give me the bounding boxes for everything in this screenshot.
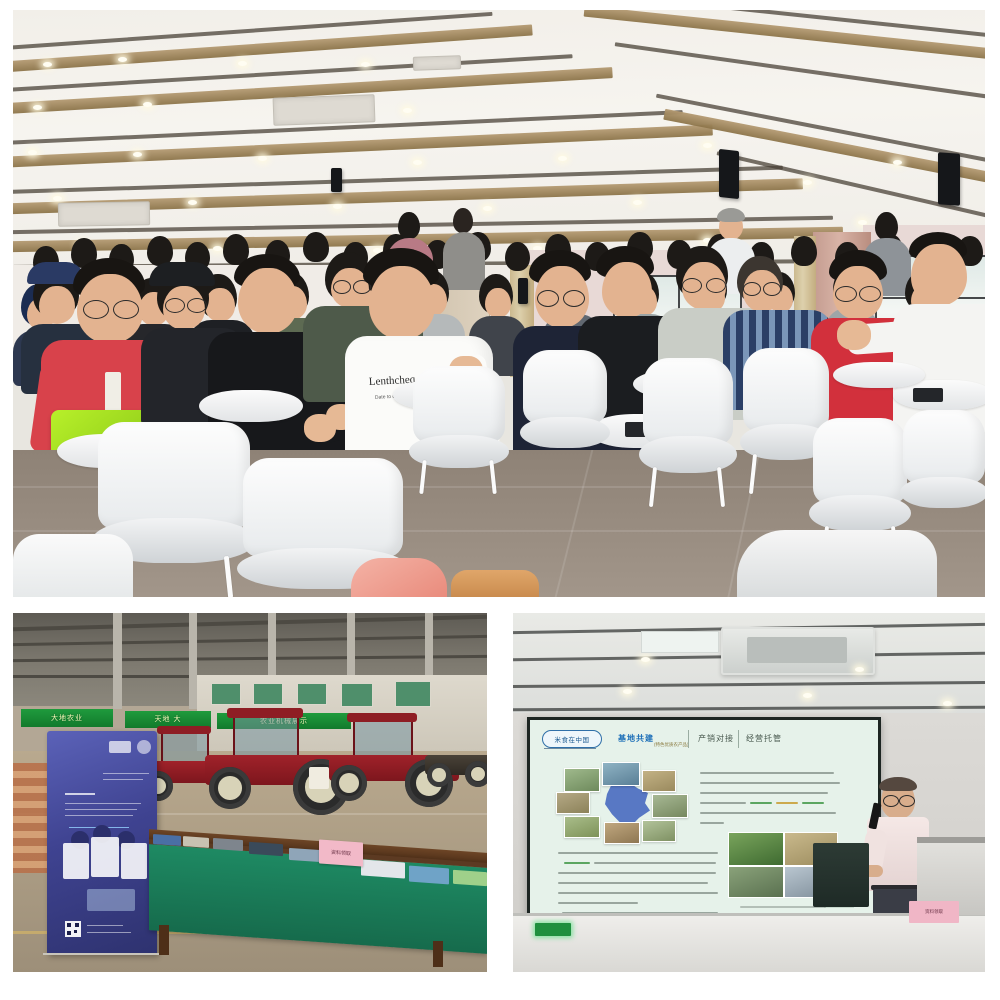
glasses-icon xyxy=(537,290,559,307)
wall-speaker-icon xyxy=(719,149,739,199)
glasses-icon xyxy=(743,282,761,296)
warehouse-window xyxy=(341,683,373,707)
ceiling-downlight xyxy=(188,200,197,205)
ceiling-downlight xyxy=(53,196,62,201)
slide-thumbnail xyxy=(602,762,640,786)
slide-logo: 米食在中国 xyxy=(542,730,602,748)
wall-speaker-icon xyxy=(938,152,960,206)
chair-back xyxy=(903,410,985,484)
banner-caption-block xyxy=(87,889,135,911)
counter-leg xyxy=(433,941,443,967)
ceiling-downlight xyxy=(641,657,650,662)
seminar-audience-photo[interactable]: Lenthcheq Date to dream xyxy=(13,10,985,597)
slide-heading-divider xyxy=(738,730,739,748)
phone-icon xyxy=(913,388,943,402)
tractor-exhibition-photo[interactable]: 大地农业 天地 大 农业机械展示 xyxy=(13,613,487,972)
warehouse-window xyxy=(211,683,241,705)
ceiling-downlight xyxy=(703,143,712,148)
glasses-icon xyxy=(883,795,899,807)
ceiling-downlight xyxy=(803,180,812,185)
brochure xyxy=(409,866,449,885)
foreground-object-tan xyxy=(451,570,539,597)
ac-grill xyxy=(747,637,847,663)
chair-leg xyxy=(224,556,233,597)
slide-thumbnail xyxy=(604,822,640,844)
glasses-icon xyxy=(835,286,857,302)
wall-speaker-icon xyxy=(331,168,342,192)
glasses-icon xyxy=(165,298,185,313)
chair-back xyxy=(643,358,733,445)
chair-back xyxy=(813,418,907,504)
chair-back xyxy=(523,350,607,424)
brochure xyxy=(213,838,243,851)
glasses-icon xyxy=(899,795,915,807)
foreground-chair xyxy=(13,534,133,597)
ceiling-downlight xyxy=(118,57,127,62)
slide-heading-2: 产销对接 xyxy=(698,733,734,744)
slide-heading-primary: 基地共建 xyxy=(618,733,654,744)
chair-seat xyxy=(900,477,985,508)
slide-heading-divider xyxy=(688,730,689,748)
brochure xyxy=(289,848,321,862)
ceiling-downlight xyxy=(143,102,152,107)
slide-thumbnail xyxy=(642,770,676,792)
chair-tablet-arm xyxy=(833,362,925,388)
slide-heading-note: (特色优质农产品) xyxy=(654,742,689,748)
ceiling-downlight xyxy=(28,150,37,155)
glasses-icon xyxy=(113,300,139,319)
chair-leg xyxy=(489,460,497,494)
ceiling-downlight xyxy=(403,108,412,113)
banner-info-card xyxy=(121,843,147,879)
glasses-icon xyxy=(682,278,702,293)
roof-truss xyxy=(113,613,122,709)
counter-pink-sign-text: 资料领取 xyxy=(331,849,351,857)
desk-name-card: 资料领取 xyxy=(909,901,959,923)
slide-thumbnail xyxy=(564,768,600,792)
roof-truss xyxy=(189,613,197,709)
foreground-object-pink xyxy=(351,558,447,597)
ceiling-downlight xyxy=(803,693,812,698)
exit-sign-icon xyxy=(535,923,571,936)
ceiling-downlight xyxy=(413,160,422,165)
glasses-icon xyxy=(187,298,207,313)
ceiling-ac-vent xyxy=(273,94,376,126)
banner-stand-foot xyxy=(43,953,161,955)
banner-info-card xyxy=(63,843,89,879)
side-cabinet-top xyxy=(917,837,985,843)
ceiling-downlight xyxy=(855,667,864,672)
slide-thumbnail xyxy=(556,792,590,814)
warehouse-window xyxy=(253,683,283,705)
lecture-chair[interactable] xyxy=(643,358,733,498)
ceiling-downlight xyxy=(558,156,567,161)
brochure xyxy=(453,870,487,886)
counter-pink-sign: 资料领取 xyxy=(319,839,363,866)
counter-leg xyxy=(159,925,169,955)
slide-thumbnail xyxy=(564,816,600,838)
chair-leg xyxy=(419,460,427,494)
podium xyxy=(813,843,869,907)
banner-info-card xyxy=(91,837,119,877)
ceiling-downlight xyxy=(33,105,42,110)
expo-banner-left: 大地农业 xyxy=(21,709,113,727)
tractor-far-right xyxy=(425,737,487,799)
ceiling-downlight xyxy=(623,689,632,694)
brochure xyxy=(249,842,283,856)
glasses-icon xyxy=(859,286,881,302)
ceiling-downlight xyxy=(238,61,247,66)
slide-photo xyxy=(728,832,784,866)
lecture-chair[interactable] xyxy=(413,366,505,490)
lecture-chair[interactable] xyxy=(523,350,607,470)
brochure xyxy=(361,859,405,878)
ceiling-downlight xyxy=(133,152,142,157)
ceiling-ac-unit xyxy=(721,627,875,675)
warehouse-window xyxy=(395,681,431,707)
lecture-chair[interactable] xyxy=(903,410,985,530)
slide-heading-3: 经营托管 xyxy=(746,733,782,744)
chair-seat xyxy=(520,417,611,448)
ceiling-downlight xyxy=(893,160,902,165)
brochure xyxy=(183,836,209,848)
photo-collage: Lenthcheq Date to dream xyxy=(0,0,1000,1000)
presentation-lecture-photo[interactable]: 米食在中国 基地共建 (特色优质农产品) 产销对接 经营托管 xyxy=(513,613,985,972)
banner-qr-code xyxy=(65,921,81,937)
chair-back xyxy=(243,458,403,557)
brochure xyxy=(153,834,181,846)
glasses-icon xyxy=(83,300,109,319)
foreground-chair xyxy=(737,530,937,597)
ceiling-downlight xyxy=(943,701,952,706)
ceiling-light-panel xyxy=(641,631,719,653)
warehouse-window xyxy=(297,683,327,705)
desk-name-card-text: 资料领取 xyxy=(925,909,943,915)
ceiling-ac-vent xyxy=(413,55,461,71)
banner-header-logo xyxy=(137,740,151,754)
chair-tablet-arm xyxy=(199,390,303,422)
slide-photo xyxy=(728,866,784,898)
glasses-icon xyxy=(763,282,781,296)
ceiling-downlight xyxy=(361,62,370,67)
chair-back xyxy=(413,366,505,443)
ceiling-downlight xyxy=(258,156,267,161)
slide-thumbnail xyxy=(652,794,688,818)
presenter-hair xyxy=(879,777,917,791)
ceiling-downlight xyxy=(43,62,52,67)
banner-header-logo xyxy=(109,741,131,753)
slide-thumbnail xyxy=(642,820,676,842)
chair-back xyxy=(98,422,250,529)
ceiling-downlight xyxy=(633,200,642,205)
rollup-banner xyxy=(47,731,157,955)
